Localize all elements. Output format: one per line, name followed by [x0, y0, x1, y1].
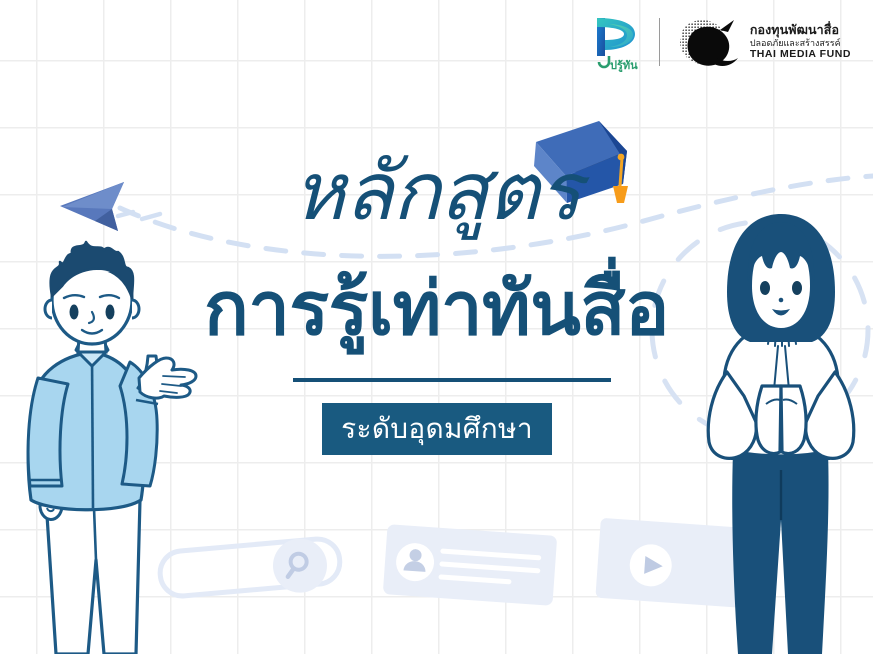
course-title: การรู้เท่าทันสื่อ	[0, 272, 873, 346]
title-block: หลักสูตร การรู้เท่าทันสื่อ ระดับอุดมศึกษ…	[0, 0, 873, 654]
title-divider	[293, 378, 611, 382]
course-kicker: หลักสูตร	[0, 152, 873, 232]
level-badge: ระดับอุดมศึกษา	[322, 403, 552, 455]
slide-root: ปรู้ทัน กองทุนพัฒนาสื่อ ปลอดภัยและสร้างส…	[0, 0, 873, 654]
